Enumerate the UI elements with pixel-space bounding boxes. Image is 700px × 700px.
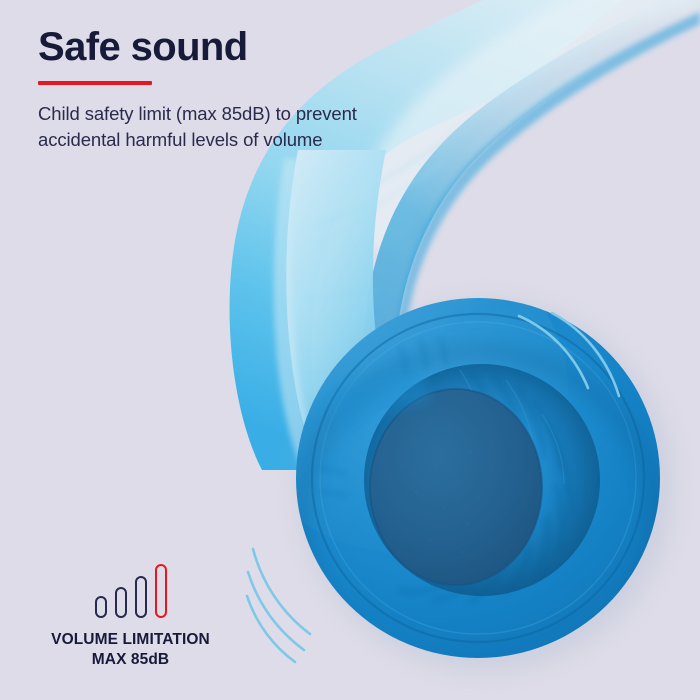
volume-bar-4-limit <box>155 564 167 618</box>
text-block: Safe sound Child safety limit (max 85dB)… <box>38 26 458 171</box>
badge-label-line-1: VOLUME LIMITATION <box>18 630 243 650</box>
volume-bar-1 <box>95 596 107 618</box>
volume-limitation-badge: VOLUME LIMITATION MAX 85dB <box>18 560 243 670</box>
page-title: Safe sound <box>38 26 458 68</box>
volume-limitation-bars-icon <box>18 560 243 618</box>
badge-label: VOLUME LIMITATION MAX 85dB <box>18 630 243 670</box>
badge-label-line-2: MAX 85dB <box>18 650 243 670</box>
volume-bar-3 <box>135 576 147 618</box>
description-line-1: Child safety limit (max 85dB) to prevent <box>38 101 458 127</box>
description-line-2: accidental harmful levels of volume <box>38 127 458 153</box>
accent-divider <box>38 81 152 85</box>
description: Child safety limit (max 85dB) to prevent… <box>38 101 458 152</box>
promo-banner: Safe sound Child safety limit (max 85dB)… <box>0 0 700 700</box>
volume-bar-2 <box>115 587 127 618</box>
